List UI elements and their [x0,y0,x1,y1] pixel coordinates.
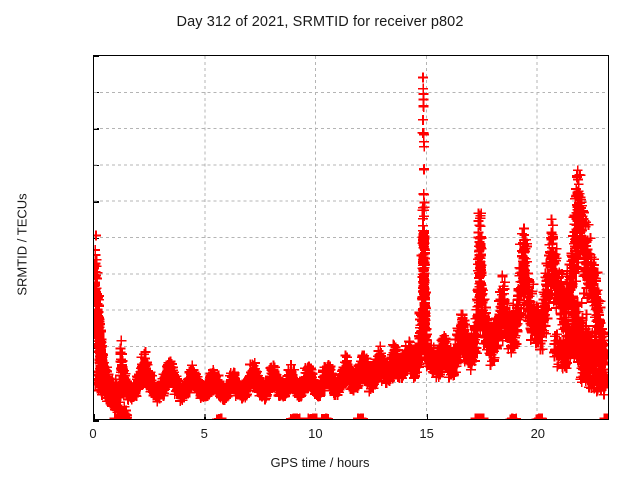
page-title: Day 312 of 2021, SRMTID for receiver p80… [0,14,640,30]
x-axis-label: GPS time / hours [0,455,640,470]
x-tick-label: 0 [63,426,123,441]
y-axis-label: SRMTID / TECUs [15,55,30,435]
plot-area [93,55,609,420]
x-tick-label: 10 [285,426,345,441]
x-tick-label: 20 [508,426,568,441]
y-tick-mark [93,420,99,422]
scatter-plot-figure: Day 312 of 2021, SRMTID for receiver p80… [0,0,640,480]
data-series-scatter [94,56,608,419]
x-tick-label: 15 [397,426,457,441]
x-tick-label: 5 [174,426,234,441]
